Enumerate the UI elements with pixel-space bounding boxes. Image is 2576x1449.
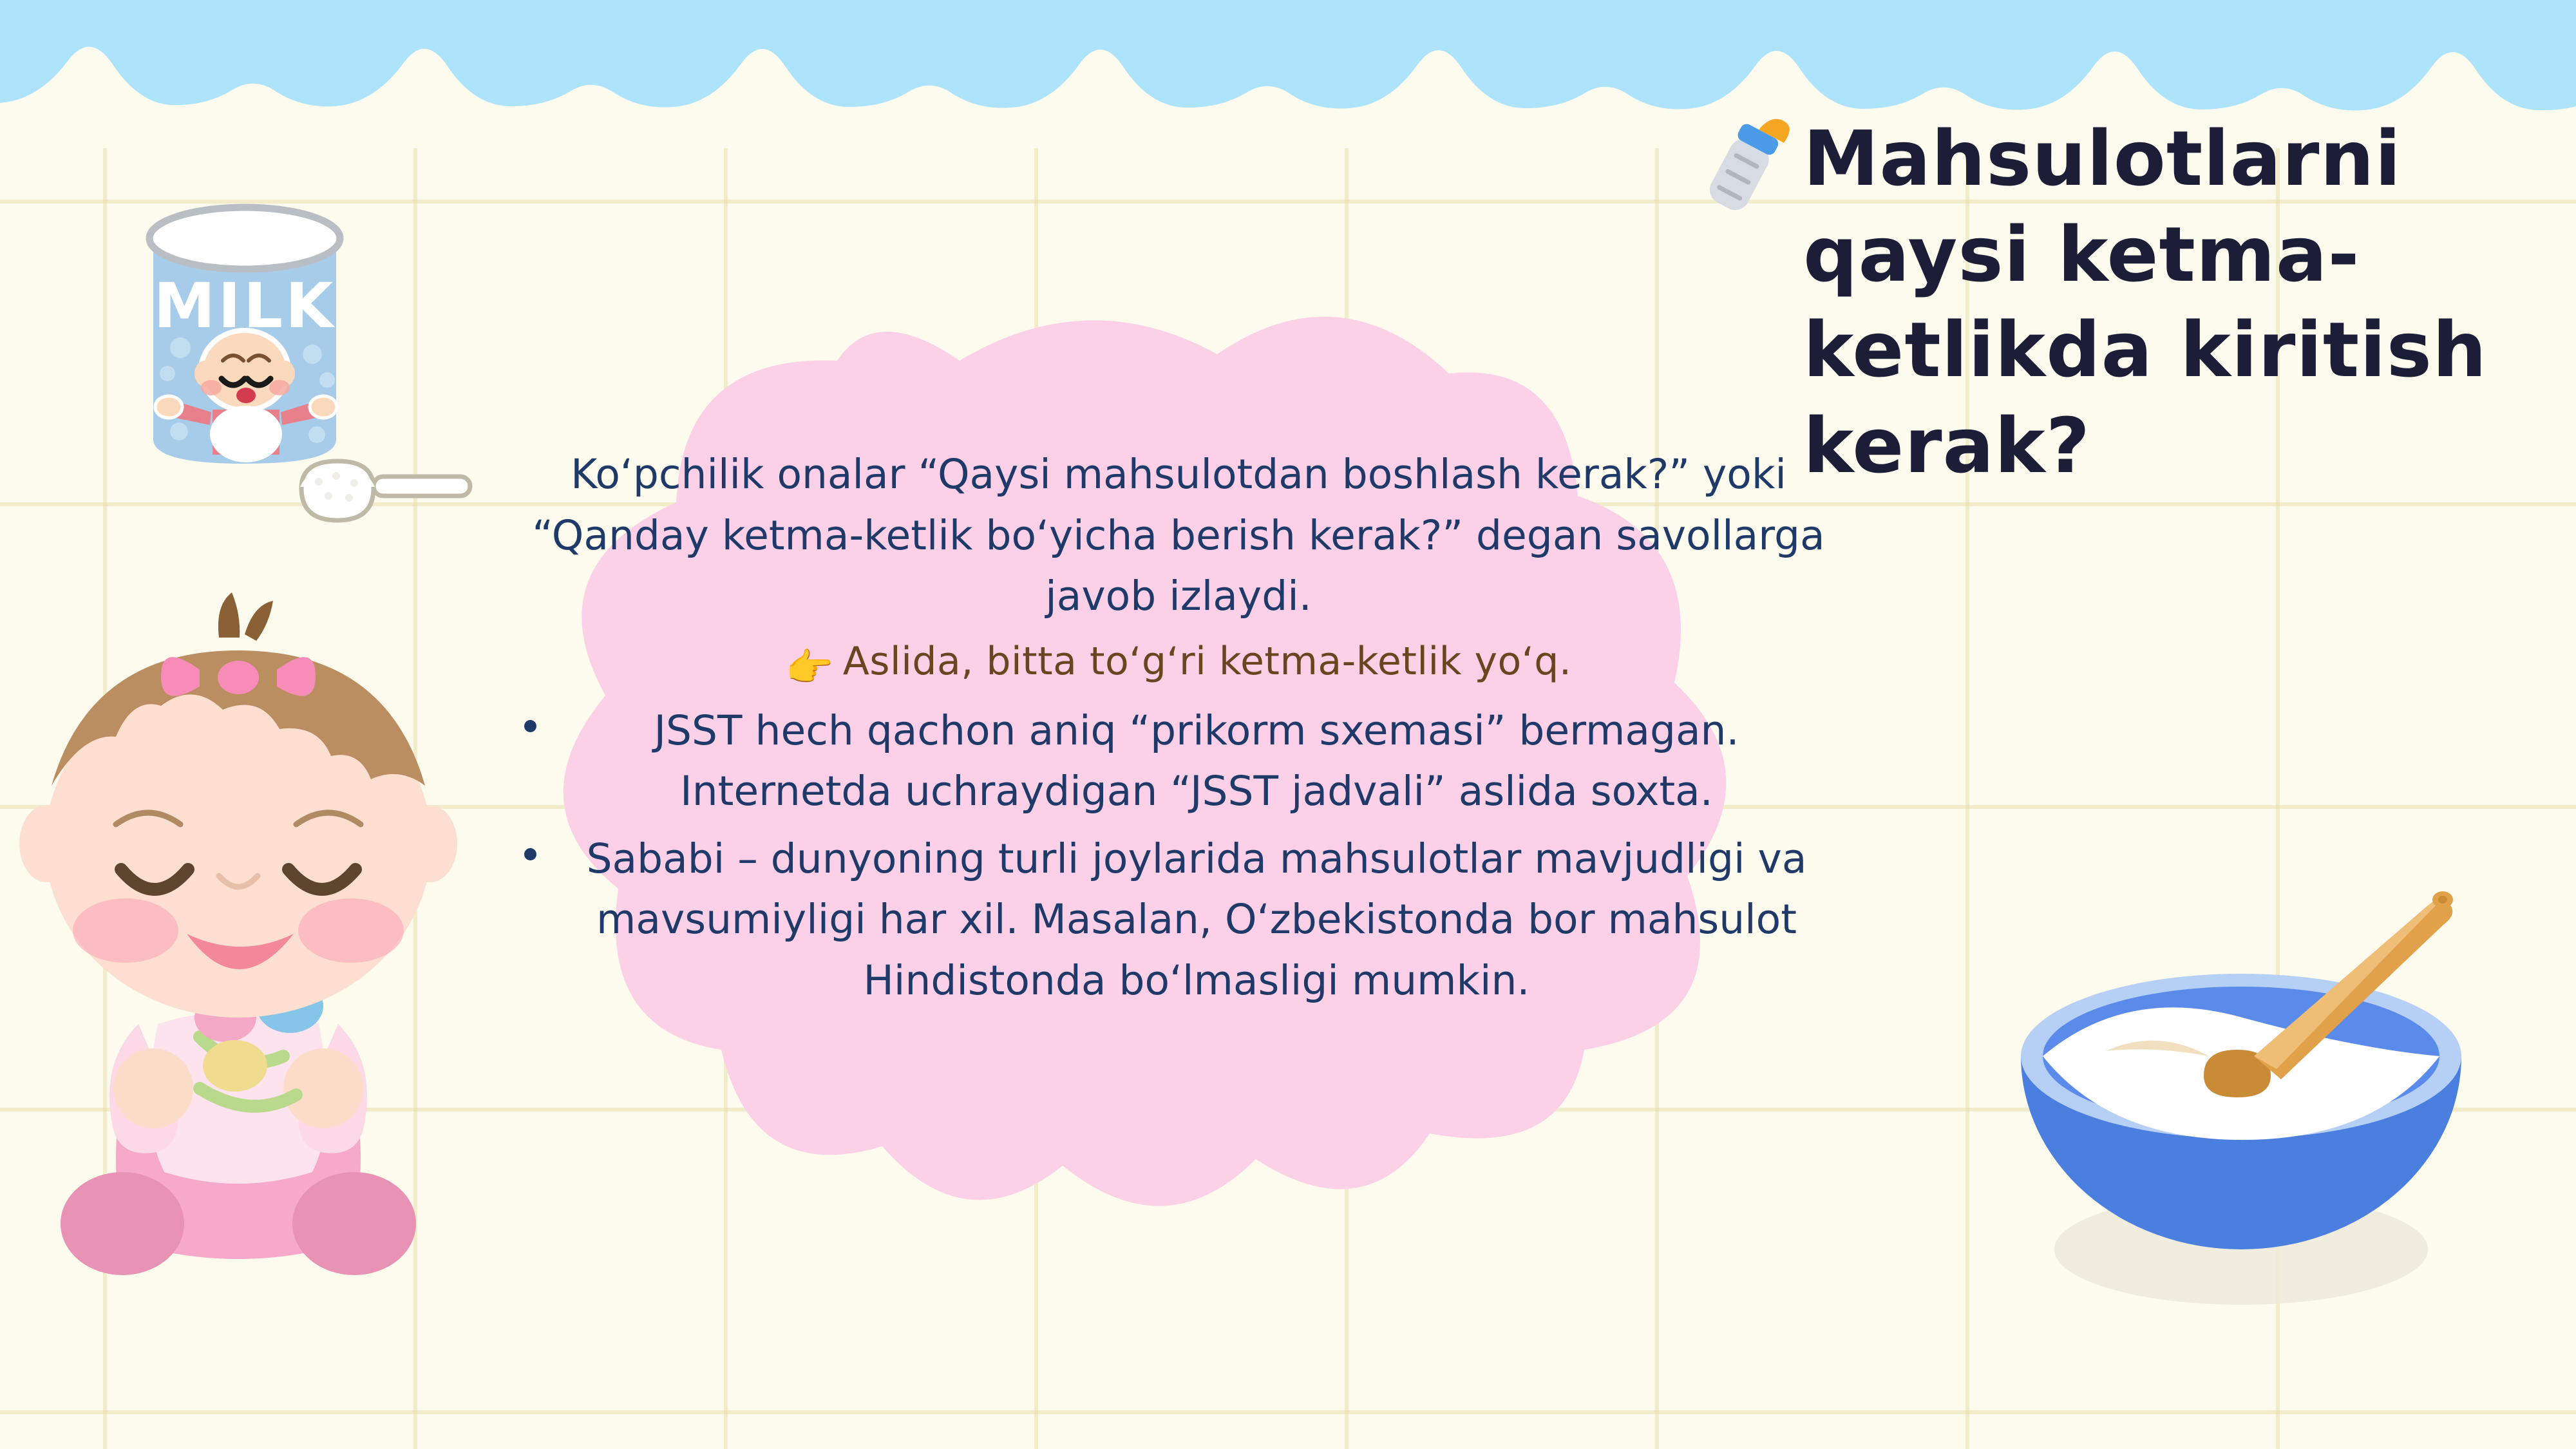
bullet-text: Sababi – dunyoning turli joylarida mahsu… (587, 835, 1807, 1004)
baby-bottle-icon (1682, 97, 1811, 225)
highlight-text: Aslida, bitta to‘g‘ri ketma-ketlik yo‘q. (843, 639, 1572, 684)
bullet-dot-icon (524, 848, 536, 860)
sitting-baby-illustration (6, 573, 470, 1294)
cloud-text-block: Ko‘pchilik onalar “Qaysi mahsulotdan bos… (502, 444, 1855, 1018)
list-item: Sababi – dunyoning turli joylarida mahsu… (502, 829, 1855, 1012)
bullet-list: JSST hech qachon aniq “prikorm sxemasi” … (502, 701, 1855, 1012)
yogurt-bowl-illustration (1984, 863, 2499, 1327)
bullet-dot-icon (524, 720, 536, 732)
page-title: Mahsulotlarni qaysi ketma- ketlikda kiri… (1803, 111, 2563, 494)
list-item: JSST hech qachon aniq “prikorm sxemasi” … (502, 701, 1855, 822)
milk-can-illustration: MILK (97, 161, 496, 535)
bullet-text: JSST hech qachon aniq “prikorm sxemasi” … (654, 707, 1739, 815)
highlight-line: 👉Aslida, bitta to‘g‘ri ketma-ketlik yo‘q… (502, 632, 1855, 697)
measuring-scoop-icon (300, 461, 470, 520)
pointing-right-icon: 👉 (786, 639, 834, 697)
intro-paragraph: Ko‘pchilik onalar “Qaysi mahsulotdan bos… (502, 444, 1855, 627)
slide-canvas: MILK (0, 0, 2576, 1449)
